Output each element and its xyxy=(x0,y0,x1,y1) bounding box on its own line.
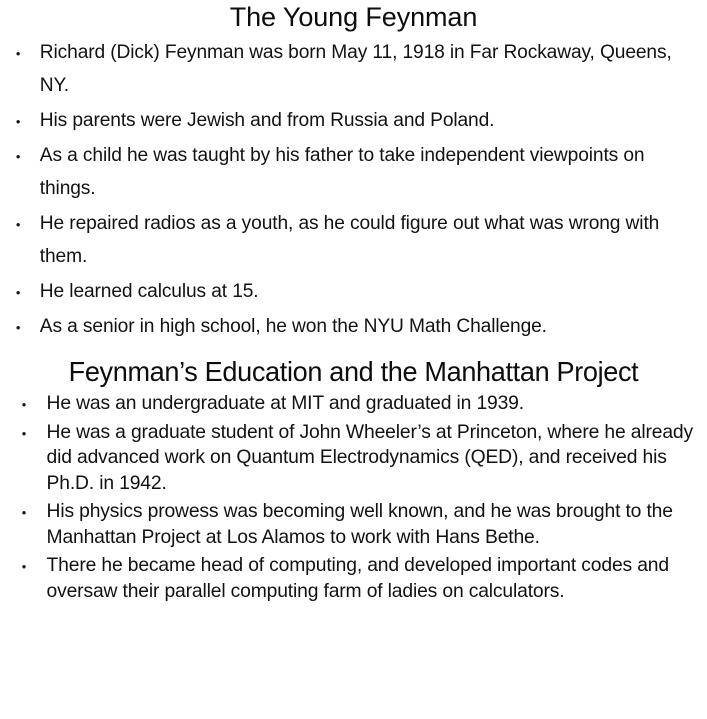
list-item: As a child he was taught by his father t… xyxy=(0,139,703,205)
slide-canvas: The Young Feynman Richard (Dick) Feynman… xyxy=(0,2,707,719)
list-item: Richard (Dick) Feynman was born May 11, … xyxy=(0,36,703,102)
list-item: His parents were Jewish and from Russia … xyxy=(0,104,703,137)
list-item: He was a graduate student of John Wheele… xyxy=(0,420,700,497)
section-2-heading: Feynman’s Education and the Manhattan Pr… xyxy=(5,357,701,388)
section-1-bullet-list: Richard (Dick) Feynman was born May 11, … xyxy=(0,36,707,343)
section-education-manhattan-project: Feynman’s Education and the Manhattan Pr… xyxy=(0,357,707,604)
list-item: He repaired radios as a youth, as he cou… xyxy=(0,207,703,273)
list-item: He was an undergraduate at MIT and gradu… xyxy=(0,391,700,417)
list-item: He learned calculus at 15. xyxy=(0,275,703,308)
section-1-heading: The Young Feynman xyxy=(0,2,707,32)
section-2-bullet-list: He was an undergraduate at MIT and gradu… xyxy=(0,391,707,604)
section-young-feynman: The Young Feynman Richard (Dick) Feynman… xyxy=(0,2,707,343)
list-item: There he became head of computing, and d… xyxy=(0,553,700,604)
list-item: His physics prowess was becoming well kn… xyxy=(0,499,700,550)
list-item: As a senior in high school, he won the N… xyxy=(0,310,703,343)
